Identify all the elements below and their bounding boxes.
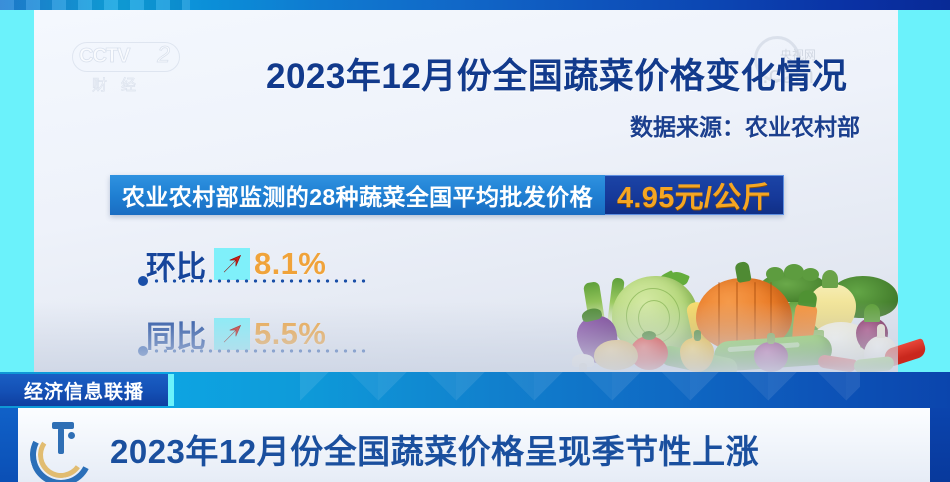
- program-name-tag: 经济信息联播: [0, 374, 168, 406]
- left-cyan-band: [0, 10, 34, 372]
- broccoli-floret: [802, 268, 819, 281]
- cctv-wordmark: CCTV: [79, 45, 129, 68]
- mushroom-icon: [572, 354, 594, 372]
- pumpkin-rib: [718, 282, 720, 347]
- average-price-label: 农业农村部监测的28种蔬菜全国平均批发价格: [110, 175, 605, 215]
- pumpkin-rib: [754, 282, 756, 347]
- program-tag-edge: [168, 374, 174, 406]
- average-price-value: 4.95元/公斤: [617, 174, 771, 216]
- dotted-rule: [152, 349, 370, 353]
- turnip-top: [822, 270, 838, 288]
- broccoli-floret: [766, 267, 784, 281]
- beet-greens: [864, 304, 880, 322]
- average-price-banner: 农业农村部监测的28种蔬菜全国平均批发价格 4.95元/公斤: [110, 175, 784, 215]
- onion-neck: [767, 333, 775, 344]
- pumpkin-rib: [736, 282, 738, 347]
- cctv-channel-logo-icon: CCTV 2 财经: [72, 38, 180, 96]
- page-title: 2023年12月份全国蔬菜价格变化情况: [266, 48, 847, 99]
- infographic-panel: CCTV 2 财经 央视网 .com 2023年12月份全国蔬菜价格变化情况 数…: [34, 10, 898, 372]
- vegetable-illustration: [564, 232, 924, 374]
- eggplant-cap: [581, 307, 603, 323]
- broadcast-screen: CCTV 2 财经 央视网 .com 2023年12月份全国蔬菜价格变化情况 数…: [0, 0, 950, 482]
- cctv-channel-number: 2: [157, 41, 170, 68]
- tomato-cap: [642, 331, 656, 340]
- cabbage-vein: [638, 300, 670, 336]
- top-strip-blocks: [0, 0, 190, 10]
- average-price-value-box: 4.95元/公斤: [605, 175, 784, 215]
- stat-underline-mom: [138, 276, 370, 286]
- program-band-pattern: [300, 372, 860, 408]
- mushroom-stalk: [579, 363, 587, 372]
- garlic-neck: [877, 324, 885, 338]
- program-name-label: 经济信息联播: [24, 377, 144, 404]
- pumpkin-stem: [734, 261, 751, 283]
- stat-underline-yoy: [138, 346, 370, 356]
- top-accent-strip: [0, 0, 950, 10]
- bullet-dot: [138, 346, 148, 356]
- broccoli-floret: [784, 264, 804, 280]
- headline-right-edge: [930, 408, 950, 482]
- lower-third-headline: 2023年12月份全国蔬菜价格呈现季节性上涨: [110, 425, 759, 473]
- bullet-dot: [138, 276, 148, 286]
- data-source-label: 数据来源：农业农村部: [630, 108, 860, 142]
- logo-stick: [58, 428, 64, 454]
- logo-dot: [68, 432, 75, 439]
- headline-left-edge: [0, 408, 18, 482]
- dotted-rule: [152, 279, 370, 283]
- cctv-channel-name: 财经: [92, 74, 150, 95]
- cctv-finance-logo-icon: [24, 418, 90, 478]
- potato-icon: [594, 340, 638, 370]
- pepper-stem: [694, 330, 701, 341]
